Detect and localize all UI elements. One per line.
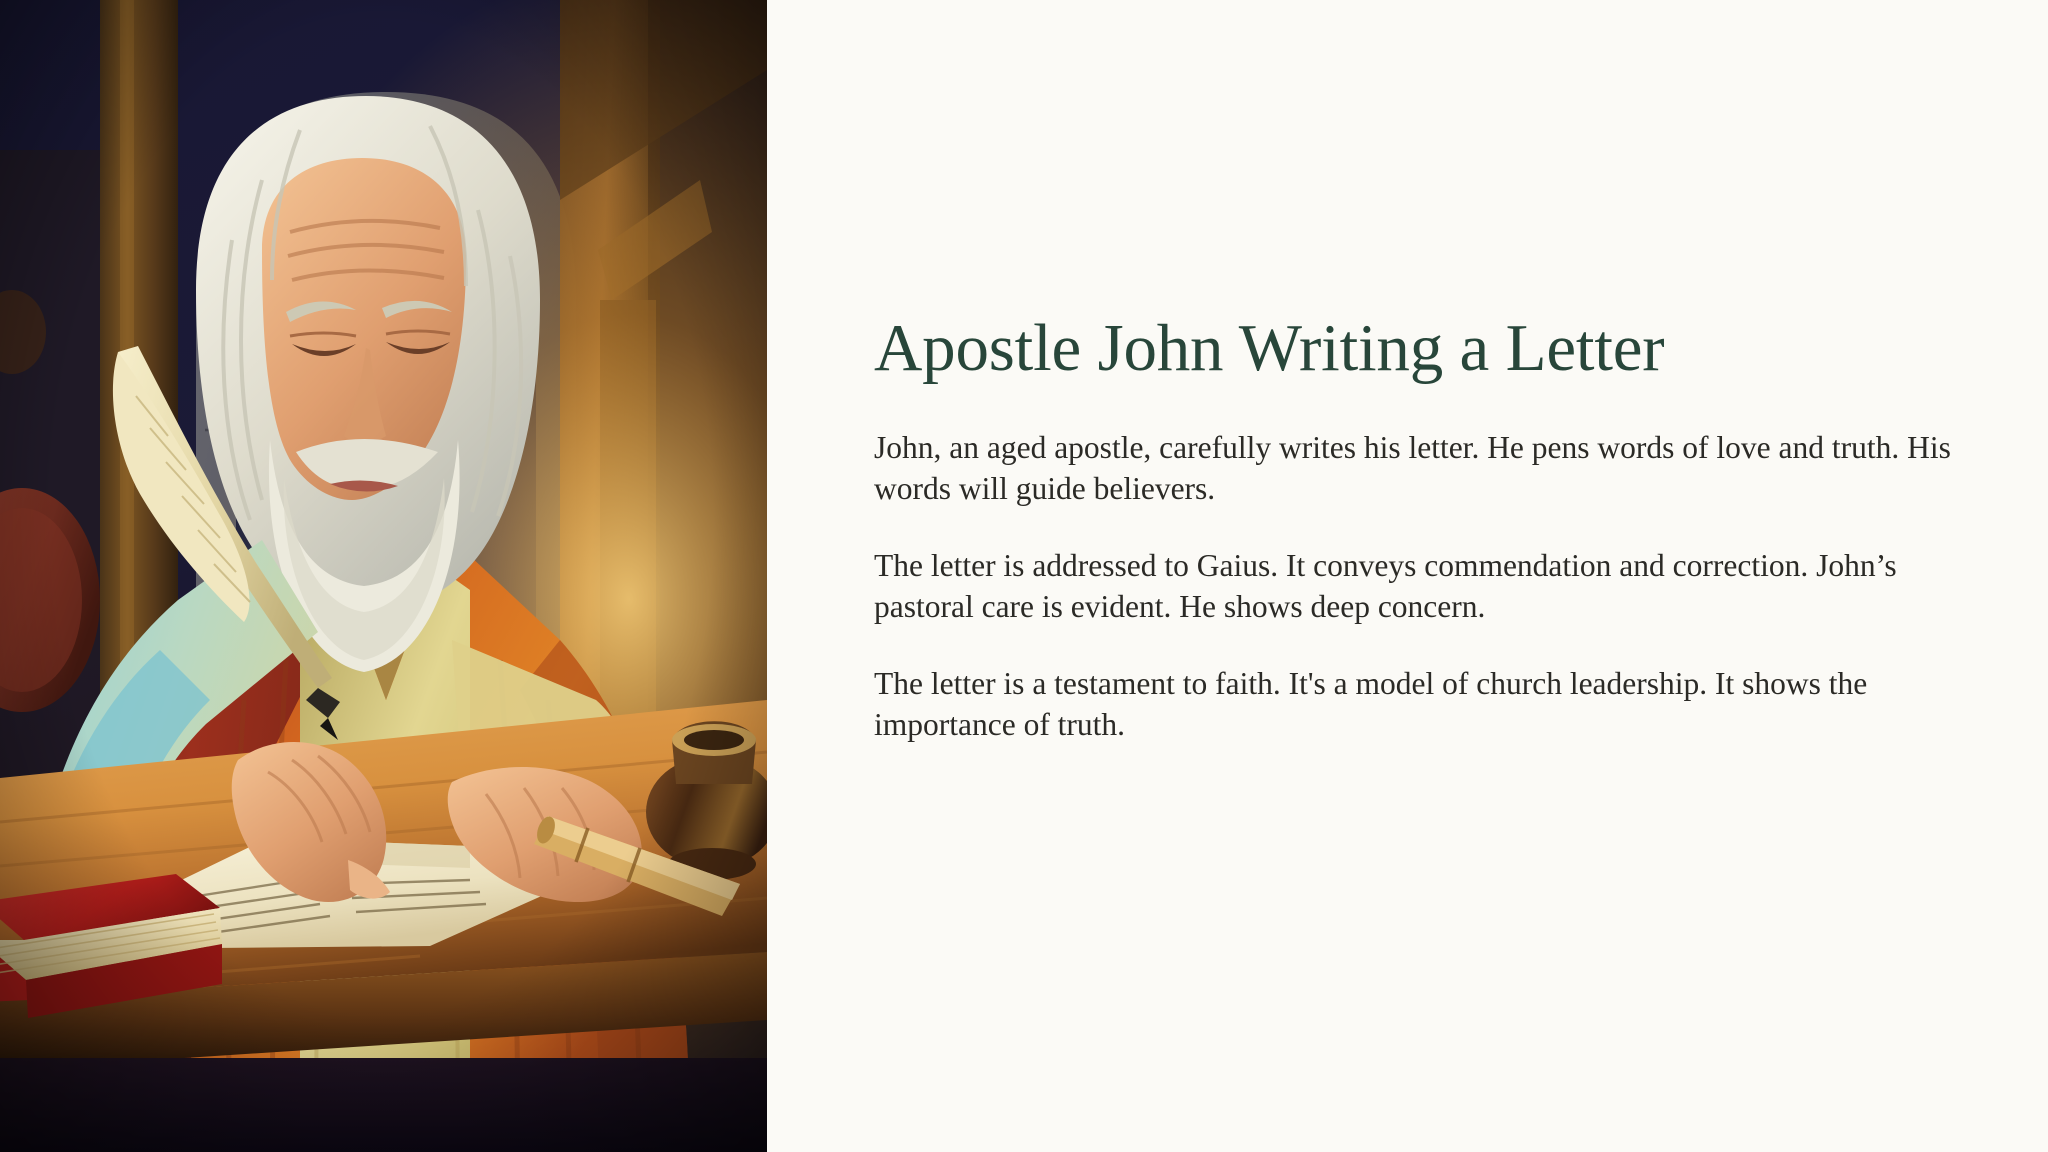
apostle-john-illustration: [0, 0, 767, 1152]
paragraph-3: The letter is a testament to faith. It's…: [874, 664, 1959, 746]
content-panel: Apostle John Writing a Letter John, an a…: [767, 0, 2048, 1152]
text-block: Apostle John Writing a Letter John, an a…: [874, 312, 1959, 746]
paragraph-1: John, an aged apostle, carefully writes …: [874, 428, 1959, 510]
vignette: [0, 0, 767, 1152]
paragraph-2: The letter is addressed to Gaius. It con…: [874, 546, 1959, 628]
slide: Apostle John Writing a Letter John, an a…: [0, 0, 2048, 1152]
illustration-artwork: [0, 0, 767, 1152]
page-title: Apostle John Writing a Letter: [874, 312, 1959, 384]
